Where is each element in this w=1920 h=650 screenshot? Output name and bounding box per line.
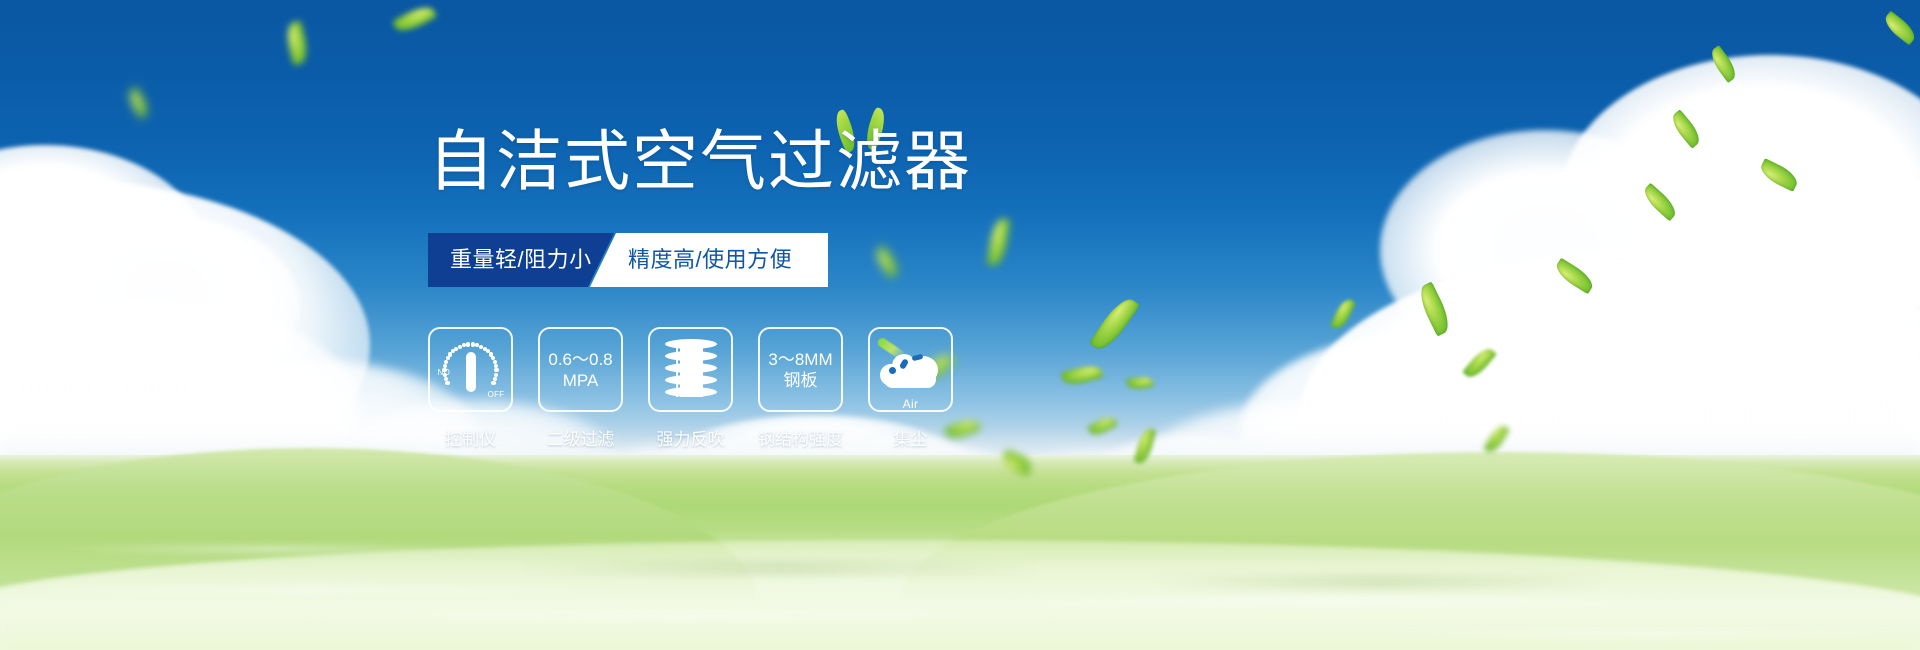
gauge-tick-dot bbox=[448, 352, 452, 356]
feature-label: 二级过滤 bbox=[547, 425, 615, 450]
gauge-tick-dot bbox=[494, 368, 498, 372]
gauge-tick-dot bbox=[491, 381, 495, 385]
cloud-notch bbox=[889, 367, 896, 374]
gauge-tick-dot bbox=[445, 381, 449, 385]
gauge-tick-dot bbox=[444, 360, 448, 364]
feature-box-line1: 3～8MM bbox=[768, 349, 832, 370]
feature-box-line2: MPA bbox=[563, 370, 599, 391]
feature-icon-box: 0.6～0.8 MPA bbox=[538, 327, 623, 412]
gauge-tick-dot bbox=[466, 342, 470, 346]
feature-label: 集尘 bbox=[894, 425, 928, 450]
gauge-off-label: OFF bbox=[488, 390, 505, 399]
cartridge-disc bbox=[665, 339, 717, 349]
feature-item-steel-strength[interactable]: 3～8MM 钢板 钢结构强度 bbox=[758, 327, 843, 450]
tab-lightweight-lowresistance-label: 重量轻/阻力小 bbox=[450, 233, 592, 287]
cloud-air-icon: Air bbox=[880, 348, 942, 392]
feature-label: 强力反吹 bbox=[657, 425, 725, 450]
feature-box-line2: 钢板 bbox=[784, 370, 818, 391]
gauge-needle bbox=[466, 352, 476, 392]
tab-highprecision-easyuse-label: 精度高/使用方便 bbox=[628, 233, 792, 287]
gauge-dial-icon: NO OFF bbox=[439, 338, 503, 402]
subtitle-tab-group: 重量轻/阻力小 精度高/使用方便 bbox=[428, 233, 828, 287]
feature-item-strong-backblow[interactable]: 强力反吹 bbox=[648, 327, 733, 450]
feature-icon-box: Air bbox=[868, 327, 953, 412]
cartridge-disc bbox=[665, 351, 717, 361]
cartridge-disc bbox=[665, 363, 717, 373]
feature-label: 控制仪 bbox=[445, 425, 496, 450]
hero-banner: 自洁式空气过滤器 重量轻/阻力小 精度高/使用方便 NO OFF 控 bbox=[0, 0, 1920, 650]
feature-label: 钢结构强度 bbox=[758, 425, 843, 450]
feature-icon-box: NO OFF bbox=[428, 327, 513, 412]
filter-cartridge-icon bbox=[663, 339, 719, 401]
feature-item-two-stage-filtration[interactable]: 0.6～0.8 MPA 二级过滤 bbox=[538, 327, 623, 450]
feature-list: NO OFF 控制仪 0.6～0.8 MPA 二级过滤 bbox=[428, 327, 953, 450]
feature-icon-box: 3～8MM 钢板 bbox=[758, 327, 843, 412]
cartridge-disc bbox=[665, 375, 717, 385]
gauge-tick-dot bbox=[444, 377, 448, 381]
feature-box-line1: 0.6～0.8 bbox=[548, 349, 612, 370]
feature-item-controller[interactable]: NO OFF 控制仪 bbox=[428, 327, 513, 450]
feature-item-dust-collection[interactable]: Air 集尘 bbox=[868, 327, 953, 450]
page-title: 自洁式空气过滤器 bbox=[428, 128, 972, 194]
feature-icon-box bbox=[648, 327, 733, 412]
air-label: Air bbox=[880, 397, 942, 411]
gauge-tick-dot bbox=[446, 356, 450, 360]
cartridge-disc bbox=[665, 387, 717, 397]
gauge-tick-dot bbox=[443, 373, 447, 377]
banner-content: 自洁式空气过滤器 重量轻/阻力小 精度高/使用方便 NO OFF 控 bbox=[0, 0, 1920, 650]
